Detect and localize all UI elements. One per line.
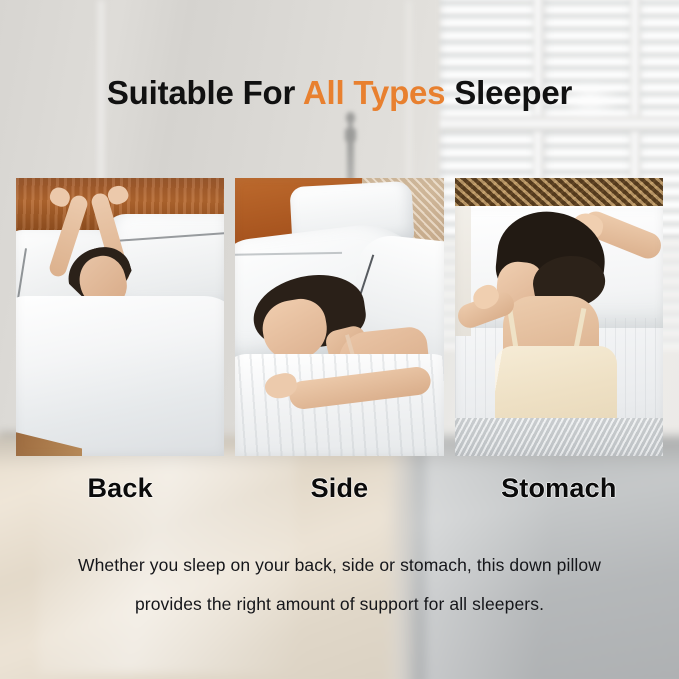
headline-part-2: Sleeper — [445, 74, 572, 111]
body-copy: Whether you sleep on your back, side or … — [38, 546, 641, 624]
label-side: Side — [235, 468, 443, 508]
label-stomach: Stomach — [455, 468, 663, 508]
marketing-image-canvas: Suitable For All Types Sleeper — [0, 0, 679, 679]
body-copy-line-1: Whether you sleep on your back, side or … — [38, 546, 641, 585]
p1-white-duvet — [16, 296, 224, 456]
headline: Suitable For All Types Sleeper — [0, 74, 679, 112]
label-back: Back — [16, 468, 224, 508]
photo-side-sleeper — [235, 178, 443, 456]
bedpost-finial-silhouette — [344, 112, 357, 184]
sleeper-position-labels: Back Side Stomach — [16, 468, 663, 508]
p3-textured-blanket — [455, 418, 663, 456]
body-copy-line-2: provides the right amount of support for… — [38, 585, 641, 624]
headline-part-1: Suitable For — [107, 74, 303, 111]
p3-shag-rug — [455, 178, 663, 206]
sleeper-photo-strip — [16, 178, 663, 456]
headline-accent-all-types: All Types — [303, 74, 445, 111]
photo-back-sleeper — [16, 178, 224, 456]
photo-stomach-sleeper — [455, 178, 663, 456]
